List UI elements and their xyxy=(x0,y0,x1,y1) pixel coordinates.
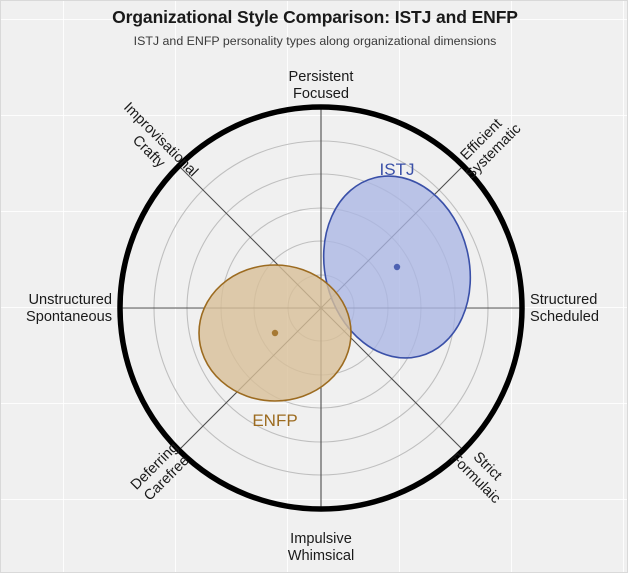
axis-label-right: StructuredScheduled xyxy=(530,292,599,325)
axis-label-bottom-right: StrictFormulaic xyxy=(447,438,516,507)
axis-label-line2: Spontaneous xyxy=(26,309,112,325)
series-center-dot-enfp xyxy=(272,330,278,336)
series-label-istj: ISTJ xyxy=(380,160,415,179)
chart-panel: Organizational Style Comparison: ISTJ an… xyxy=(0,0,628,573)
radar-plot: ISTJENFP PersistentFocusedEfficientSyste… xyxy=(1,1,628,573)
series-label-enfp: ENFP xyxy=(252,411,297,430)
axis-label-top: PersistentFocused xyxy=(289,69,354,102)
axis-label-line1: Unstructured xyxy=(28,292,112,308)
axis-label-bottom: ImpulsiveWhimsical xyxy=(288,531,354,564)
axis-label-top-right: EfficientSystematic xyxy=(451,109,525,183)
axis-label-top-left: ImprovisationalCrafty xyxy=(108,99,201,192)
axis-label-line1: Structured xyxy=(530,292,597,308)
axis-label-left: UnstructuredSpontaneous xyxy=(26,292,112,325)
axis-label-line1: Impulsive xyxy=(290,531,352,547)
axis-label-line2: Whimsical xyxy=(288,548,354,564)
axis-label-line2: Focused xyxy=(293,86,349,102)
axis-label-line1: Persistent xyxy=(289,69,354,85)
series-center-dot-istj xyxy=(394,264,400,270)
axis-label-bottom-left: DeferringCarefree xyxy=(128,440,194,506)
axis-label-line2: Scheduled xyxy=(530,309,599,325)
